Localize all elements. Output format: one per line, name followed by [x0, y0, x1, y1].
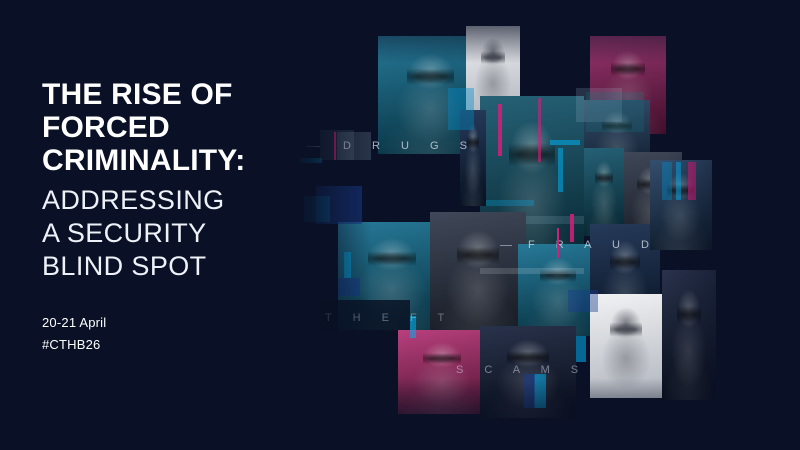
fraud-dash	[500, 245, 512, 246]
glitch-block	[662, 162, 672, 200]
fraud-accent-bar	[557, 228, 559, 258]
keyword-fraud: F R A U D	[528, 239, 658, 251]
glitch-bar	[538, 98, 541, 162]
photo-collage: D R U G S F R A U D T H E F T S C A M S	[290, 0, 800, 450]
portrait-face	[662, 270, 716, 400]
collage-tile-portrait-dark-2	[662, 270, 716, 400]
collage-tile-portrait-right-3	[650, 160, 712, 250]
glitch-bar	[498, 104, 502, 156]
glitch-bar	[576, 336, 586, 362]
keyword-drugs: D R U G S	[343, 140, 476, 152]
page-title: THE RISE OF FORCED CRIMINALITY:	[42, 78, 312, 177]
drugs-accent-bar	[334, 132, 336, 160]
portrait-face	[650, 160, 712, 250]
event-meta: 20-21 April #CTHB26	[42, 312, 106, 356]
glitch-block	[338, 278, 360, 296]
glitch-bar	[550, 140, 580, 145]
glitch-bar	[676, 162, 681, 200]
glitch-bar	[480, 268, 584, 274]
glitch-bar	[688, 162, 696, 200]
event-dates: 20-21 April	[42, 312, 106, 334]
collage-tile-portrait-right-2	[584, 148, 624, 236]
page-subtitle: ADDRESSING A SECURITY BLIND SPOT	[42, 184, 312, 283]
headline-block: THE RISE OF FORCED CRIMINALITY: ADDRESSI…	[42, 78, 312, 283]
glitch-block	[586, 92, 644, 132]
glitch-bar	[524, 374, 535, 408]
portrait-face	[584, 148, 624, 236]
collage-tile-portrait-bw-3	[590, 294, 662, 398]
glitch-bar	[570, 214, 574, 242]
glitch-bar	[344, 252, 351, 278]
poster-canvas: D R U G S F R A U D T H E F T S C A M S …	[0, 0, 800, 450]
glitch-bar	[534, 374, 546, 408]
glitch-bar	[486, 200, 534, 206]
keyword-theft: T H E F T	[325, 312, 453, 324]
glitch-block	[448, 88, 474, 130]
glitch-bar	[558, 148, 563, 192]
event-hashtag: #CTHB26	[42, 334, 106, 356]
portrait-face	[590, 294, 662, 398]
glitch-block	[568, 290, 598, 312]
keyword-scams: S C A M S	[456, 364, 587, 376]
